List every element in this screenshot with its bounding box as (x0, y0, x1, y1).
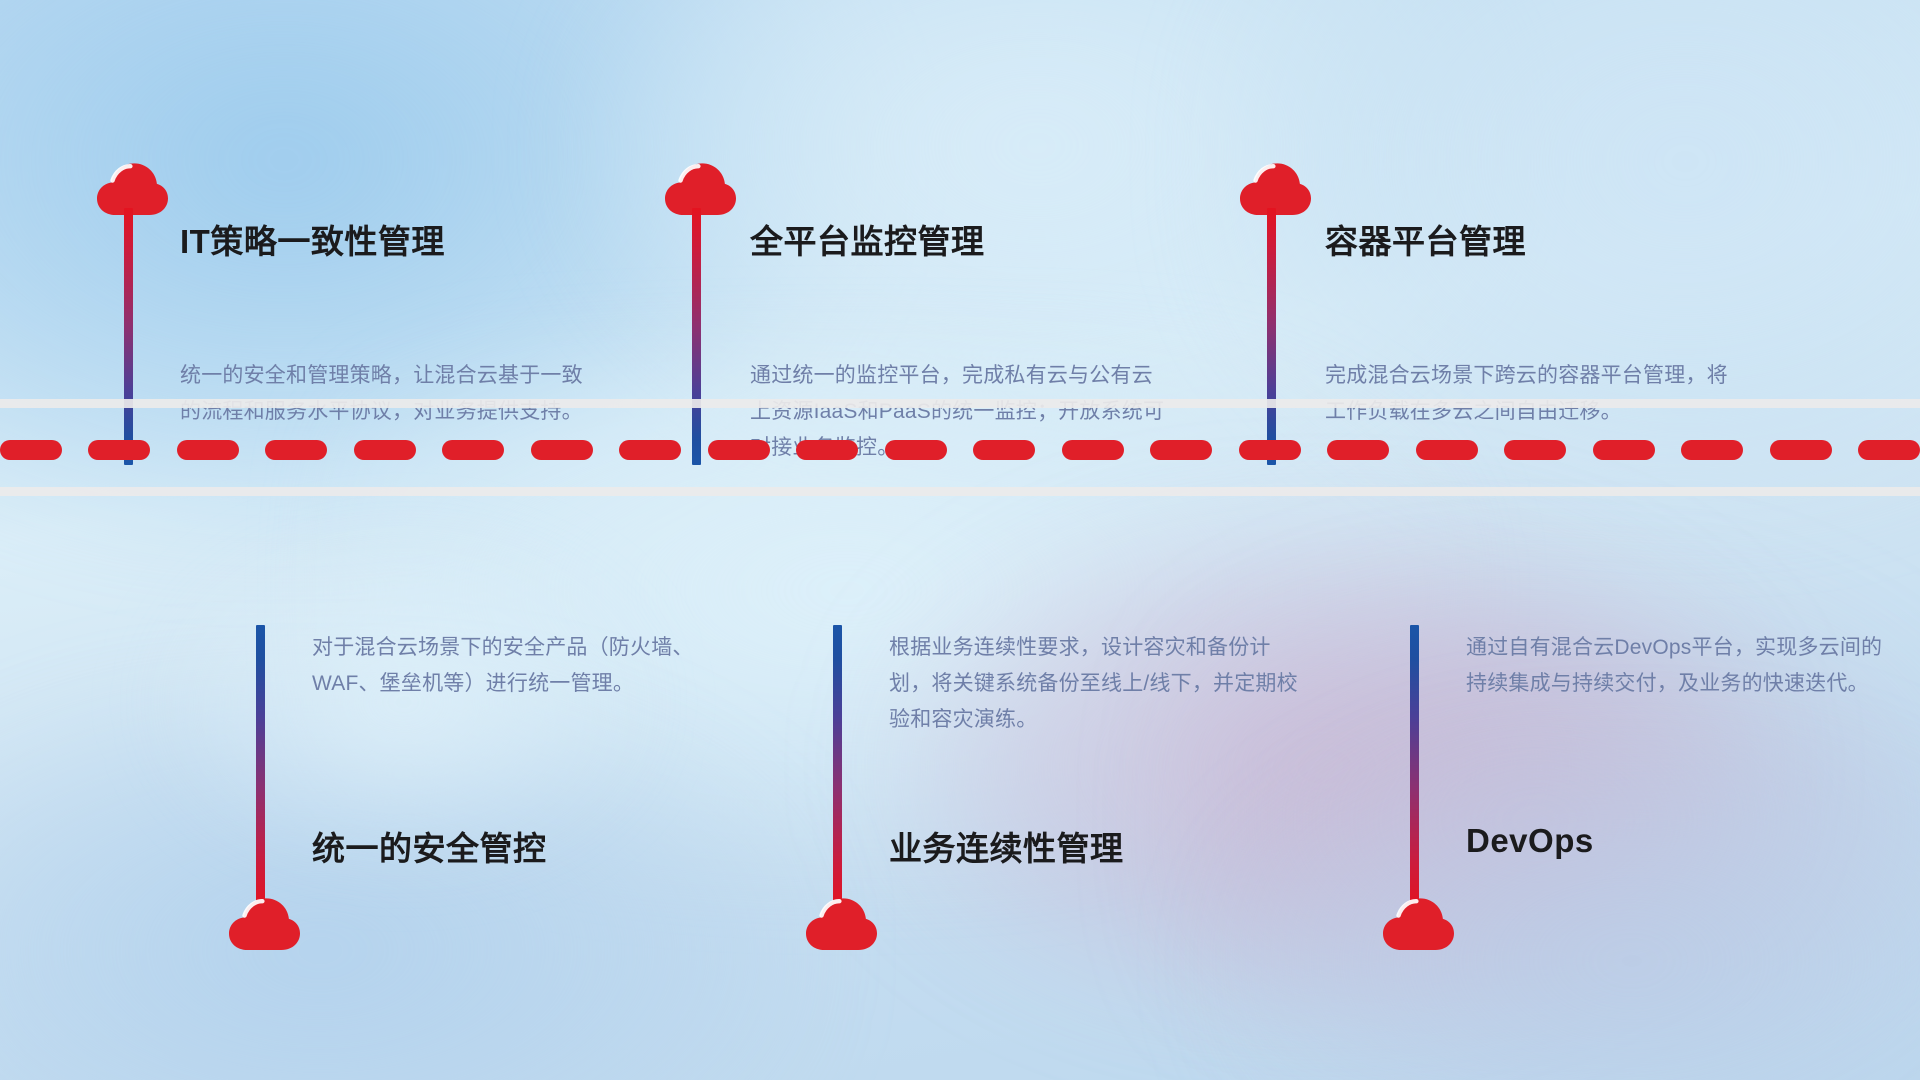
cloud-icon (1381, 895, 1455, 951)
timeline-bar (833, 625, 842, 910)
divider-line-top (0, 399, 1920, 408)
timeline-bar (1410, 625, 1419, 910)
divider-dash (1504, 440, 1566, 460)
column-body: 完成混合云场景下跨云的容器平台管理，将工作负载在多云之间自由迁移。 (1325, 358, 1745, 430)
divider-dash (1416, 440, 1478, 460)
column-body: 对于混合云场景下的安全产品（防火墙、WAF、堡垒机等）进行统一管理。 (312, 630, 732, 702)
timeline-bar (692, 208, 701, 465)
column-body: 统一的安全和管理策略，让混合云基于一致的流程和服务水平协议，对业务提供支持。 (180, 358, 600, 430)
divider-dash (1770, 440, 1832, 460)
background-blob-9 (154, 540, 653, 864)
divider-dash (1858, 440, 1920, 460)
column-title: IT策略一致性管理 (180, 215, 445, 263)
cloud-icon (804, 895, 878, 951)
divider-dash (1150, 440, 1212, 460)
divider-dash (1062, 440, 1124, 460)
divider-dash (88, 440, 150, 460)
divider-dash (973, 440, 1035, 460)
divider-dash (1593, 440, 1655, 460)
divider-dash (796, 440, 858, 460)
column-title: 容器平台管理 (1325, 215, 1526, 263)
divider-dash (442, 440, 504, 460)
column-body: 通过自有混合云DevOps平台，实现多云间的持续集成与持续交付，及业务的快速迭代… (1466, 630, 1886, 702)
divider-line-bottom (0, 487, 1920, 496)
divider-dash (265, 440, 327, 460)
cloud-icon (227, 895, 301, 951)
timeline-bar (124, 208, 133, 465)
divider-dash (531, 440, 593, 460)
divider-dash (0, 440, 62, 460)
column-title: 业务连续性管理 (889, 822, 1124, 870)
column-body: 根据业务连续性要求，设计容灾和备份计划，将关键系统备份至线上/线下，并定期校验和… (889, 630, 1309, 738)
infographic-canvas: IT策略一致性管理 统一的安全和管理策略，让混合云基于一致的流程和服务水平协议，… (0, 0, 1920, 1080)
column-title: 全平台监控管理 (750, 215, 985, 263)
column-title: 统一的安全管控 (312, 822, 547, 870)
divider-dash (354, 440, 416, 460)
background-blob-8 (1229, 734, 1920, 1080)
timeline-bar (256, 625, 265, 910)
divider-dash (619, 440, 681, 460)
divider-dash (708, 440, 770, 460)
divider-dash (885, 440, 947, 460)
divider-dashed-line (0, 440, 1920, 460)
divider-dash (1681, 440, 1743, 460)
column-title: DevOps (1466, 822, 1594, 860)
divider-dash (177, 440, 239, 460)
divider-dash (1327, 440, 1389, 460)
divider-dash (1239, 440, 1301, 460)
timeline-bar (1267, 208, 1276, 465)
